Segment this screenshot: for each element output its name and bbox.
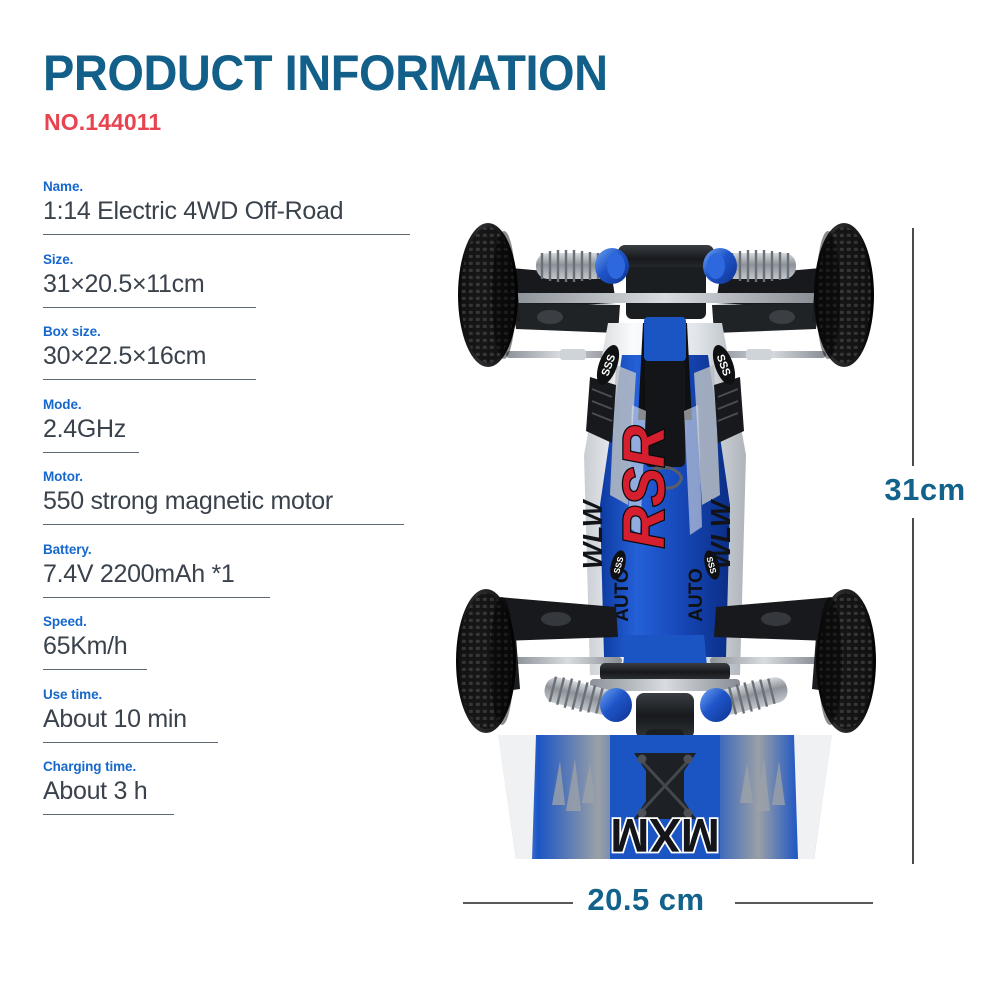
spec-row: Motor.550 strong magnetic motor bbox=[43, 468, 443, 525]
spec-row: Speed.65Km/h bbox=[43, 613, 443, 670]
spec-value: 65Km/h bbox=[43, 631, 443, 662]
product-photo-rc-car: RSR AUTO AUTO WLW WLW SSS SSS SSS bbox=[440, 205, 890, 875]
model-number: NO.144011 bbox=[44, 109, 161, 136]
spec-divider bbox=[43, 742, 218, 743]
spec-divider bbox=[43, 814, 174, 815]
height-dimension-label: 31cm bbox=[873, 470, 977, 510]
spec-divider bbox=[43, 524, 404, 525]
width-dimension-line-right bbox=[735, 902, 873, 904]
height-dimension-line-top bbox=[912, 228, 914, 466]
spec-divider bbox=[43, 452, 139, 453]
spec-label: Speed. bbox=[43, 613, 443, 630]
page-title: PRODUCT INFORMATION bbox=[43, 45, 608, 101]
svg-text:WLW: WLW bbox=[577, 498, 608, 569]
width-dimension-label: 20.5 cm bbox=[556, 880, 736, 920]
spec-value: 2.4GHz bbox=[43, 414, 443, 445]
spec-label: Use time. bbox=[43, 686, 443, 703]
spec-row: Size.31×20.5×11cm bbox=[43, 251, 443, 308]
spec-label: Box size. bbox=[43, 323, 443, 340]
spec-divider bbox=[43, 307, 256, 308]
spec-divider bbox=[43, 597, 270, 598]
spec-row: Box size.30×22.5×16cm bbox=[43, 323, 443, 380]
decal-rsr: RSR bbox=[612, 426, 677, 549]
spec-value: 31×20.5×11cm bbox=[43, 269, 443, 300]
rear-wing: MXM bbox=[498, 735, 832, 862]
spec-label: Charging time. bbox=[43, 758, 443, 775]
spec-label: Battery. bbox=[43, 541, 443, 558]
spec-value: 1:14 Electric 4WD Off-Road bbox=[43, 196, 443, 227]
spec-row: Charging time.About 3 h bbox=[43, 758, 443, 815]
spec-value: 30×22.5×16cm bbox=[43, 341, 443, 372]
spec-row: Battery.7.4V 2200mAh *1 bbox=[43, 541, 443, 598]
spec-row: Use time.About 10 min bbox=[43, 686, 443, 743]
specification-list: Name.1:14 Electric 4WD Off-RoadSize.31×2… bbox=[43, 178, 443, 831]
product-information-page: PRODUCT INFORMATION NO.144011 Name.1:14 … bbox=[0, 0, 1000, 1000]
spec-label: Motor. bbox=[43, 468, 443, 485]
spec-divider bbox=[43, 669, 147, 670]
spec-value: 550 strong magnetic motor bbox=[43, 486, 443, 517]
spec-row: Name.1:14 Electric 4WD Off-Road bbox=[43, 178, 443, 235]
spec-label: Name. bbox=[43, 178, 443, 195]
spec-value: About 3 h bbox=[43, 776, 443, 807]
spec-value: 7.4V 2200mAh *1 bbox=[43, 559, 443, 590]
spec-divider bbox=[43, 379, 256, 380]
height-dimension-line-bottom bbox=[912, 518, 914, 864]
spec-label: Mode. bbox=[43, 396, 443, 413]
svg-text:AUTO: AUTO bbox=[686, 568, 707, 621]
spec-divider bbox=[43, 234, 410, 235]
spec-row: Mode.2.4GHz bbox=[43, 396, 443, 453]
spec-label: Size. bbox=[43, 251, 443, 268]
decal-mxm: MXM bbox=[610, 809, 720, 862]
spec-value: About 10 min bbox=[43, 704, 443, 735]
